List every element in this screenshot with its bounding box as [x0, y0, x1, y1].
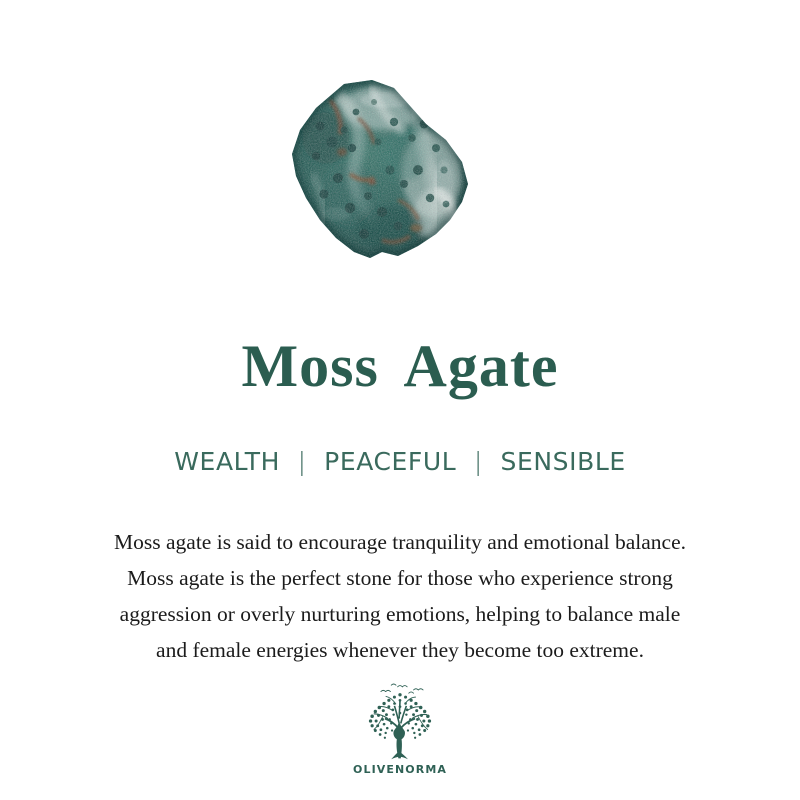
attribute-separator-1: | [289, 447, 316, 477]
description-line: aggression or overly nurturing emotions,… [40, 596, 760, 632]
brand-name: OLIVENORMA [353, 763, 447, 776]
attribute-sensible: SENSIBLE [500, 447, 625, 476]
attribute-wealth: WEALTH [174, 447, 280, 476]
olive-tree-icon [356, 682, 444, 760]
description-line: Moss agate is said to encourage tranquil… [40, 524, 760, 560]
attribute-separator-2: | [465, 447, 492, 477]
stone-illustration [286, 78, 472, 264]
product-card: Moss Agate WEALTH | PEACEFUL | SENSIBLE … [0, 0, 800, 800]
attribute-list: WEALTH | PEACEFUL | SENSIBLE [0, 447, 800, 477]
description-line: Moss agate is the perfect stone for thos… [40, 560, 760, 596]
page-title: Moss Agate [0, 333, 800, 399]
brand-logo: OLIVENORMA [0, 682, 800, 776]
product-description: Moss agate is said to encourage tranquil… [40, 524, 760, 668]
moss-agate-stone-image [286, 78, 472, 264]
description-line: and female energies whenever they become… [40, 632, 760, 668]
attribute-peaceful: PEACEFUL [324, 447, 456, 476]
